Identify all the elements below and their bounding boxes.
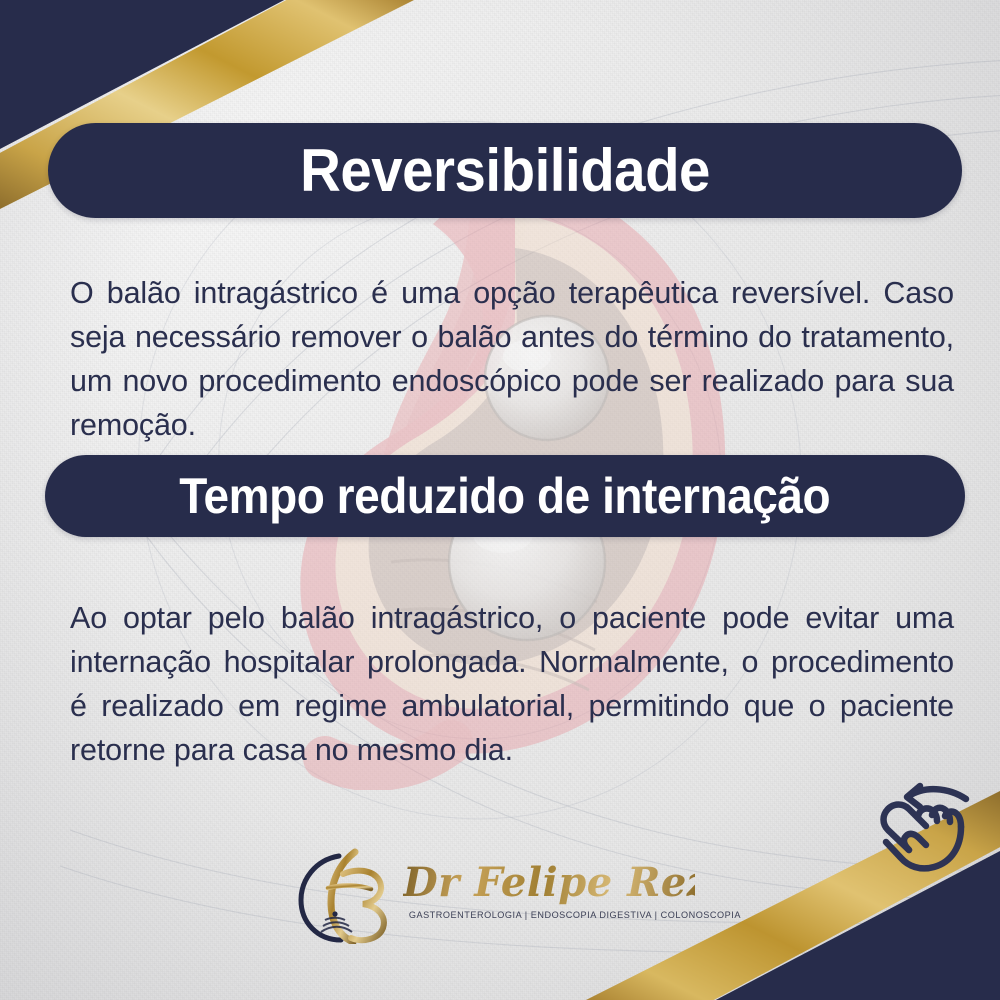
poster-canvas: Reversibilidade O balão intragástrico é … xyxy=(0,0,1000,1000)
section-heading-reversibilidade: Reversibilidade xyxy=(48,123,962,218)
heading-text: Tempo reduzido de internação xyxy=(180,471,831,521)
section-body-tempo-reduzido: Ao optar pelo balão intragástrico, o pac… xyxy=(70,596,954,772)
heading-text: Reversibilidade xyxy=(300,141,710,201)
logo-doctor-name: Dr Felipe Rezende xyxy=(403,854,695,912)
brand-logo: Dr Felipe Rezende GASTROENTEROLOGIA | EN… xyxy=(295,848,695,944)
section-body-reversibilidade: O balão intragástrico é uma opção terapê… xyxy=(70,271,954,447)
logo-monogram-icon xyxy=(295,848,405,944)
section-heading-tempo-reduzido: Tempo reduzido de internação xyxy=(45,455,965,537)
logo-specialties: GASTROENTEROLOGIA | ENDOSCOPIA DIGESTIVA… xyxy=(409,910,689,921)
swipe-left-hand-icon[interactable] xyxy=(862,778,974,874)
